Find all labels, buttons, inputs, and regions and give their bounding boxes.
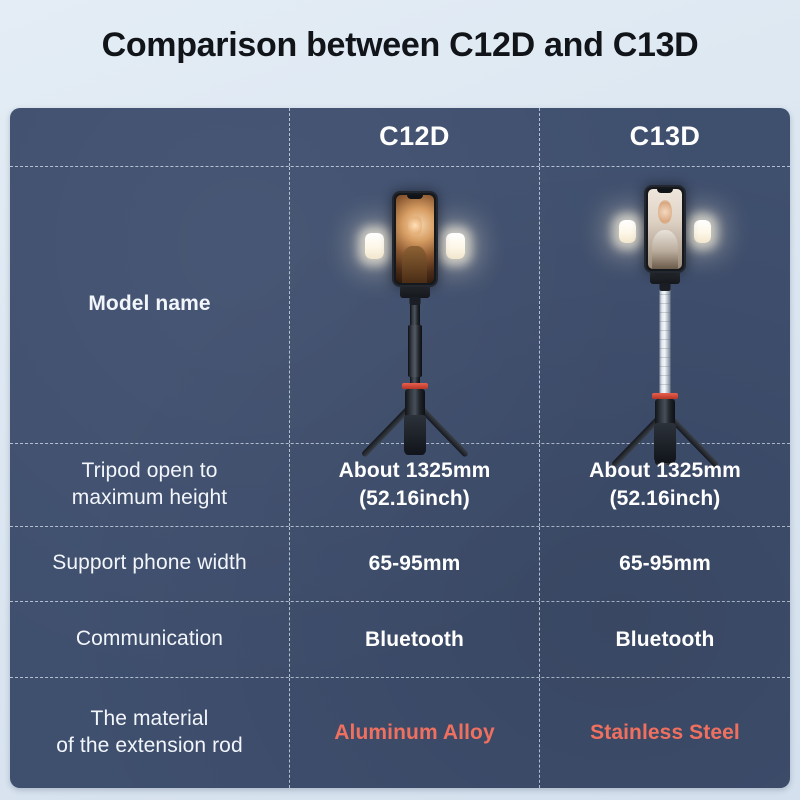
row-label-max-height: Tripod open to maximum height	[10, 444, 290, 526]
value-c12d-rod-material: Aluminum Alloy	[290, 678, 540, 788]
tripod-selfie-stick-black	[315, 167, 515, 443]
row-label-line2: maximum height	[72, 486, 227, 509]
led-fill-light-right-icon	[446, 233, 465, 259]
header-blank-cell	[10, 108, 290, 166]
value-c12d-communication: Bluetooth	[290, 602, 540, 677]
row-label-line2: of the extension rod	[56, 734, 242, 757]
column-header-c13d: C13D	[540, 108, 790, 166]
value-c13d-rod-material: Stainless Steel	[540, 678, 790, 788]
row-label-text: Support phone width	[52, 550, 247, 577]
value-text: Bluetooth	[616, 626, 715, 653]
row-label-line1: The material	[91, 707, 209, 730]
tripod-selfie-stick-silver	[565, 167, 765, 443]
extension-rod-aluminum	[410, 299, 420, 387]
value-line2: (52.16inch)	[610, 487, 721, 510]
product-illustration-c12d	[296, 167, 533, 443]
value-c12d-max-height: About 1325mm (52.16inch)	[290, 444, 540, 526]
row-label-text: Tripod open to maximum height	[72, 458, 227, 512]
row-label-communication: Communication	[10, 602, 290, 677]
value-line1: About 1325mm	[589, 459, 741, 482]
value-text: 65-95mm	[369, 550, 461, 577]
phone-notch-icon	[657, 189, 673, 193]
table-row: Communication Bluetooth Bluetooth	[10, 602, 790, 678]
table-row: Model name	[10, 167, 790, 444]
extension-rod-stainless	[660, 285, 671, 397]
value-text: About 1325mm (52.16inch)	[589, 457, 741, 512]
row-label-model-name: Model name	[10, 167, 290, 443]
value-c12d-phone-width: 65-95mm	[290, 527, 540, 602]
value-c13d-max-height: About 1325mm (52.16inch)	[540, 444, 790, 526]
table-row: Support phone width 65-95mm 65-95mm	[10, 527, 790, 603]
table-header-row: C12D C13D	[10, 108, 790, 167]
column-header-c12d-label: C12D	[379, 121, 450, 152]
row-label-line1: Tripod open to	[81, 459, 217, 482]
value-line1: About 1325mm	[339, 459, 491, 482]
comparison-table: C12D C13D Model name	[10, 108, 790, 788]
row-label-text: Model name	[88, 291, 210, 318]
value-text-accent: Aluminum Alloy	[334, 719, 494, 746]
row-label-phone-width: Support phone width	[10, 527, 290, 602]
column-header-c12d: C12D	[290, 108, 540, 166]
phone-screen-photo-c13d	[648, 189, 682, 269]
product-illustration-c13d	[546, 167, 784, 443]
product-image-c13d	[540, 167, 790, 443]
column-header-c13d-label: C13D	[630, 121, 701, 152]
red-accent-ring	[402, 383, 428, 389]
value-c13d-phone-width: 65-95mm	[540, 527, 790, 602]
value-text: Bluetooth	[365, 626, 464, 653]
phone-c12d	[392, 191, 438, 287]
value-text-accent: Stainless Steel	[590, 719, 740, 746]
page-title: Comparison between C12D and C13D	[0, 26, 800, 65]
value-text: 65-95mm	[619, 550, 711, 577]
led-fill-light-left-icon	[365, 233, 384, 259]
red-accent-ring	[652, 393, 678, 399]
led-fill-light-right-icon	[694, 220, 711, 243]
table-row: Tripod open to maximum height About 1325…	[10, 444, 790, 527]
phone-notch-icon	[407, 195, 423, 199]
row-label-text: Communication	[76, 626, 223, 653]
product-image-c12d	[290, 167, 540, 443]
value-c13d-communication: Bluetooth	[540, 602, 790, 677]
phone-screen-photo-c12d	[396, 195, 434, 283]
table-row: The material of the extension rod Alumin…	[10, 678, 790, 788]
phone-c13d	[644, 185, 686, 273]
led-fill-light-left-icon	[619, 220, 636, 243]
value-text: About 1325mm (52.16inch)	[339, 457, 491, 512]
row-label-rod-material: The material of the extension rod	[10, 678, 290, 788]
row-label-text: The material of the extension rod	[56, 706, 242, 760]
value-line2: (52.16inch)	[359, 487, 470, 510]
